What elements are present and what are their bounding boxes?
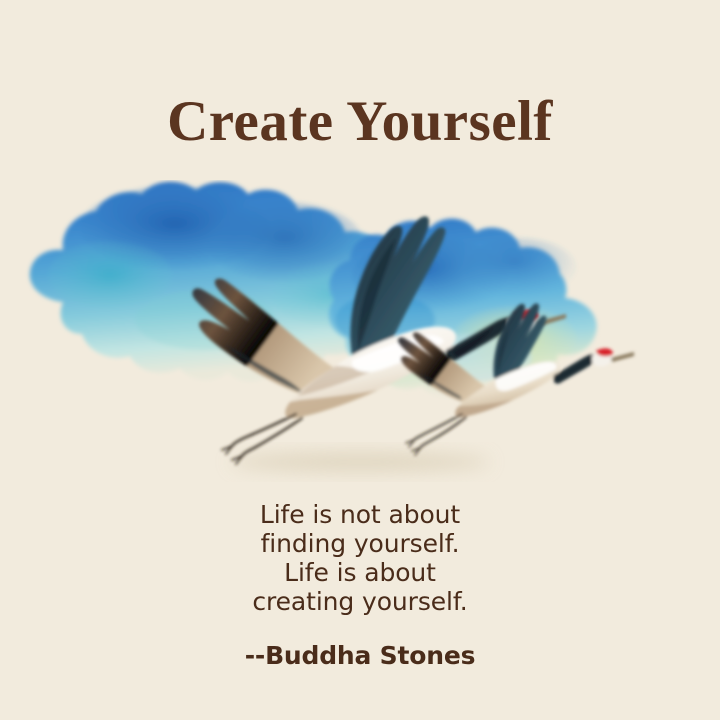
quote-text: Life is not about finding yourself. Life… <box>0 500 720 616</box>
quote-line-3: Life is about <box>0 558 720 587</box>
page-title: Create Yourself <box>0 92 720 152</box>
quote-line-1: Life is not about <box>0 500 720 529</box>
poster-canvas: Create Yourself <box>0 0 720 720</box>
ground-shadow <box>230 453 490 471</box>
quote-attribution: --Buddha Stones <box>0 641 720 670</box>
quote-line-4: creating yourself. <box>0 587 720 616</box>
quote-line-2: finding yourself. <box>0 529 720 558</box>
artwork-illustration <box>0 180 720 490</box>
